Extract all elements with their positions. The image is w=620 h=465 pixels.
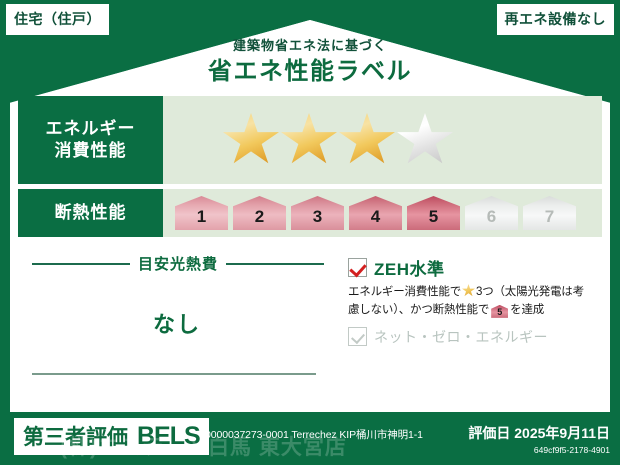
zeh-panel: ZEH水準 エネルギー消費性能で3つ（太陽光発電は考慮しない）、かつ断熱性能で5…: [336, 247, 602, 403]
zeh-title: ZEH水準: [374, 255, 445, 280]
insulation-chip-6: 6: [465, 196, 518, 230]
title-subtitle: 建築物省エネ法に基づく: [0, 38, 620, 55]
netzero-check-icon: [348, 327, 367, 346]
utility-cost-header: 目安光熱費: [18, 253, 336, 274]
zeh-desc-stars: 3つ（太陽光発電: [476, 286, 561, 298]
property-address: 0000037273-0001 Terrechez KIP桶川市神明1-1: [205, 429, 423, 443]
insulation-level-scale: 1 2 3 4 5 6 7: [163, 189, 602, 237]
mini-insulation-chip-icon: 5: [491, 305, 508, 318]
star-empty-4: [397, 113, 453, 167]
zeh-desc-part3: を達成: [510, 304, 544, 316]
netzero-label: ネット・ゼロ・エネルギー: [374, 327, 548, 347]
insulation-chip-1: 1: [175, 196, 228, 230]
utility-cost-title: 目安光熱費: [138, 253, 218, 274]
label-card: エネルギー 消費性能 断熱性能 1 2 3: [18, 96, 602, 406]
insulation-performance-row: 断熱性能 1 2 3 4 5 6 7: [18, 189, 602, 237]
star-filled-2: [281, 113, 337, 167]
zeh-description: エネルギー消費性能で3つ（太陽光発電は考慮しない）、かつ断熱性能で5を達成: [348, 284, 594, 320]
badge-building-type: 住宅（住戸）: [6, 4, 109, 35]
energy-label-line2: 消費性能: [46, 140, 136, 162]
insulation-chip-7: 7: [523, 196, 576, 230]
zeh-netzero-row: ネット・ゼロ・エネルギー: [348, 327, 602, 347]
energy-label-root: 住宅（住戸） 再エネ設備なし 建築物省エネ法に基づく 省エネ性能ラベル エネルギ…: [0, 0, 620, 465]
energy-label-line1: エネルギー: [46, 118, 136, 140]
evaluation-info: 評価日 2025年9月11日 649cf9f5-2178-4901: [468, 423, 610, 455]
insulation-chip-3: 3: [291, 196, 344, 230]
insulation-chip-2: 2: [233, 196, 286, 230]
star-filled-3: [339, 113, 395, 167]
mini-star-icon: [462, 284, 475, 297]
energy-performance-row: エネルギー 消費性能: [18, 96, 602, 184]
footer-bar: 第三者評価 BELS 0000037273-0001 Terrechez KIP…: [0, 412, 620, 465]
utility-cost-panel: 目安光熱費 なし: [18, 247, 336, 403]
evaluation-date: 評価日 2025年9月11日: [468, 423, 610, 443]
utility-cost-value: なし: [18, 307, 336, 339]
bels-logo: 第三者評価 BELS: [14, 418, 209, 455]
utility-cost-divider: [32, 373, 316, 375]
badge-renewable-energy: 再エネ設備なし: [497, 4, 615, 35]
bels-jp-text: 第三者評価: [23, 421, 128, 451]
energy-star-rating: [163, 96, 602, 184]
lower-section: 目安光熱費 なし ZEH水準 エネルギー消費性能で3つ（太陽光発電は考慮しない）…: [18, 247, 602, 403]
rule-left: [32, 263, 130, 265]
zeh-title-row: ZEH水準: [348, 255, 602, 280]
insulation-performance-label: 断熱性能: [18, 189, 163, 237]
certificate-id: 649cf9f5-2178-4901: [468, 445, 610, 455]
bels-en-text: BELS: [137, 422, 200, 451]
title-block: 建築物省エネ法に基づく 省エネ性能ラベル: [0, 38, 620, 88]
insulation-chip-5: 5: [407, 196, 460, 230]
zeh-desc-part1: エネルギー消費性能で: [348, 286, 461, 298]
insulation-chip-4: 4: [349, 196, 402, 230]
page-title: 省エネ性能ラベル: [0, 56, 620, 88]
star-filled-1: [223, 113, 279, 167]
rule-right: [226, 263, 324, 265]
zeh-check-icon: [348, 258, 367, 277]
energy-performance-label: エネルギー 消費性能: [18, 96, 163, 184]
